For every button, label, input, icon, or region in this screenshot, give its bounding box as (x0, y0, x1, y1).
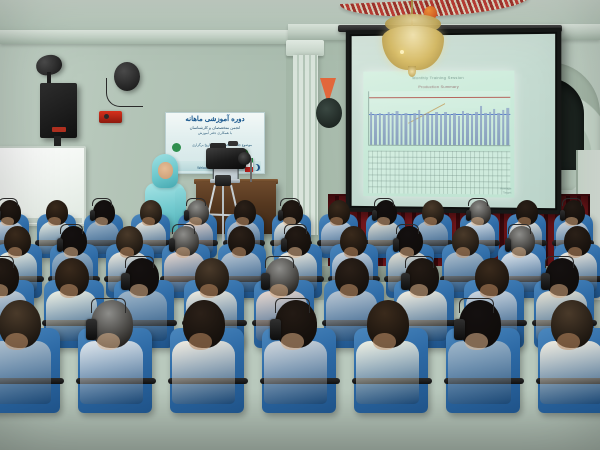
headset-band (405, 256, 434, 268)
audience-nape (340, 284, 359, 298)
chart-bar (480, 106, 482, 146)
chart-bar (413, 113, 415, 145)
chart-bar (370, 112, 372, 145)
audience-nape (565, 217, 577, 226)
chart-bar (379, 113, 381, 145)
headset-band (374, 198, 394, 206)
headset-band (468, 198, 488, 206)
translation-headset-icon (372, 210, 377, 221)
translation-headset-icon (270, 319, 280, 340)
audience-nape (60, 284, 79, 298)
crescent-moon-icon (253, 164, 260, 171)
chart-bar (422, 114, 424, 145)
presenter-face (158, 162, 173, 179)
audience-nape (95, 217, 107, 226)
audience-nape (270, 284, 289, 298)
table-column (479, 151, 480, 194)
audience-nape (64, 247, 79, 258)
chart-bar (431, 115, 433, 145)
chart-bar (383, 114, 385, 144)
translation-headset-icon (169, 238, 175, 251)
table-column (470, 151, 471, 194)
audience-nape (232, 247, 247, 258)
pilaster-capital (286, 40, 324, 56)
audience-nape (142, 217, 154, 226)
chart-bar (449, 114, 451, 145)
audience-nape (480, 284, 499, 298)
headset-band (275, 298, 311, 313)
chart-bar (462, 111, 464, 145)
headset-band (186, 198, 206, 206)
slide-data-table (368, 151, 510, 195)
chart-bar (418, 110, 420, 144)
conference-room-photo: دوره آموزشی ماهانه انجمن متخصصان و کارشن… (0, 0, 600, 450)
audience-nape (410, 284, 429, 298)
projection-screen: Monthly Training Session Production Summ… (346, 28, 562, 215)
chart-plot-area (368, 91, 510, 146)
fire-alarm-icon[interactable] (99, 111, 122, 123)
audience-nape (377, 217, 389, 226)
headset-band (91, 298, 127, 313)
audience-nape (465, 333, 488, 350)
headset-band (508, 224, 532, 234)
audience-nape (176, 247, 191, 258)
audience-nape (471, 217, 483, 226)
audience-torso (356, 341, 419, 404)
chart-bar (409, 115, 411, 145)
headset-band (562, 198, 582, 206)
chart-bar (435, 112, 437, 145)
chart-bar (475, 112, 477, 145)
chart-bar (440, 114, 442, 145)
translation-headset-icon (57, 238, 63, 251)
cornice-left (0, 30, 292, 44)
chart-bar (392, 113, 394, 145)
audience-nape (200, 284, 219, 298)
table-column (465, 151, 466, 194)
headset-band (0, 256, 14, 268)
audience-nape (1, 217, 13, 226)
chart-bar (507, 108, 509, 145)
screen-surface: Monthly Training Session Production Summ… (352, 34, 556, 208)
chart-bar (400, 114, 402, 145)
chart-bar (444, 112, 446, 145)
chandelier-finial (408, 66, 416, 77)
headset-band (459, 298, 495, 313)
audience-torso (540, 341, 600, 404)
translation-headset-icon (541, 273, 549, 290)
speaker-bracket (54, 136, 61, 146)
chart-bar (396, 111, 398, 145)
translation-headset-icon (281, 238, 287, 251)
legend-item-2: Target (500, 190, 511, 194)
wall-disc (316, 98, 342, 128)
audience-nape (557, 333, 580, 350)
chart-bar (502, 110, 504, 145)
chart-bar (466, 113, 468, 145)
table-column (483, 151, 484, 194)
headset-band (172, 224, 196, 234)
audience-nape (189, 333, 212, 350)
audience-nape (330, 217, 342, 226)
headset-band (125, 256, 154, 268)
chart-legend: Average Target (500, 186, 511, 194)
audience-torso (172, 341, 235, 404)
table-column (497, 151, 498, 194)
translation-headset-icon (466, 210, 471, 221)
chart-bar (498, 113, 500, 146)
projected-slide: Monthly Training Session Production Summ… (363, 71, 514, 198)
slide-chart: Production Summary (368, 84, 510, 146)
audience-nape (48, 217, 60, 226)
chart-bar (458, 116, 460, 145)
audience-torso (80, 341, 143, 404)
headset-band (265, 256, 294, 268)
chart-bar (427, 113, 429, 145)
headset-band (0, 198, 18, 206)
audience-nape (344, 247, 359, 258)
translation-headset-icon (505, 238, 511, 251)
chart-bar (387, 112, 389, 145)
chart-bar (453, 113, 455, 145)
fire-alarm-button[interactable] (104, 114, 109, 119)
camera-lens-icon (238, 152, 251, 165)
chart-bar (493, 109, 495, 145)
table-column (461, 151, 462, 194)
translation-headset-icon (401, 273, 409, 290)
audience-nape (236, 217, 248, 226)
spotlight-icon-right (114, 62, 140, 91)
audience-nape (5, 333, 28, 350)
translation-headset-icon (121, 273, 129, 290)
translation-headset-icon (393, 238, 399, 251)
tripod-head (215, 175, 231, 186)
audience-torso (264, 341, 327, 404)
chart-bar (484, 113, 486, 145)
translation-headset-icon (86, 319, 96, 340)
translation-headset-icon (90, 210, 95, 221)
audience-nape (373, 333, 396, 350)
translation-headset-icon (278, 210, 283, 221)
headset-band (60, 224, 84, 234)
audience-nape (130, 284, 149, 298)
translation-headset-icon (261, 273, 269, 290)
chart-bar (489, 111, 491, 145)
translation-headset-icon (184, 210, 189, 221)
flag-pole (250, 158, 252, 182)
chart-bar (471, 114, 473, 145)
slide-title: Monthly Training Session (366, 75, 511, 81)
camera-microphone-icon (228, 141, 238, 146)
headset-band (280, 198, 300, 206)
audience-nape (512, 247, 527, 258)
table-column (474, 151, 475, 194)
chart-bar (374, 114, 376, 145)
audience-torso (0, 341, 51, 404)
audience-nape (456, 247, 471, 258)
banner-subtitle: انجمن متخصصان و کارشناسان (170, 125, 260, 130)
headset-band (284, 224, 308, 234)
table-column (492, 151, 493, 194)
audience-nape (424, 217, 436, 226)
banner-line3: با همکاری دفتر آموزش (170, 131, 260, 136)
table-column (488, 151, 489, 194)
translation-headset-icon (560, 210, 565, 221)
audience-nape (550, 284, 569, 298)
spotlight-stem (47, 72, 51, 83)
translation-headset-icon (454, 319, 464, 340)
chandelier-sparkle (400, 50, 404, 54)
banner-logo-icon (172, 143, 181, 152)
audience-torso (448, 341, 511, 404)
headset-band (92, 198, 112, 206)
audience-nape (97, 333, 120, 350)
chart-bar (405, 113, 407, 145)
audience-nape (281, 333, 304, 350)
headset-band (545, 256, 574, 268)
banner-title: دوره آموزشی ماهانه (170, 116, 260, 124)
headset-band (396, 224, 420, 234)
speaker-badge (52, 127, 66, 132)
